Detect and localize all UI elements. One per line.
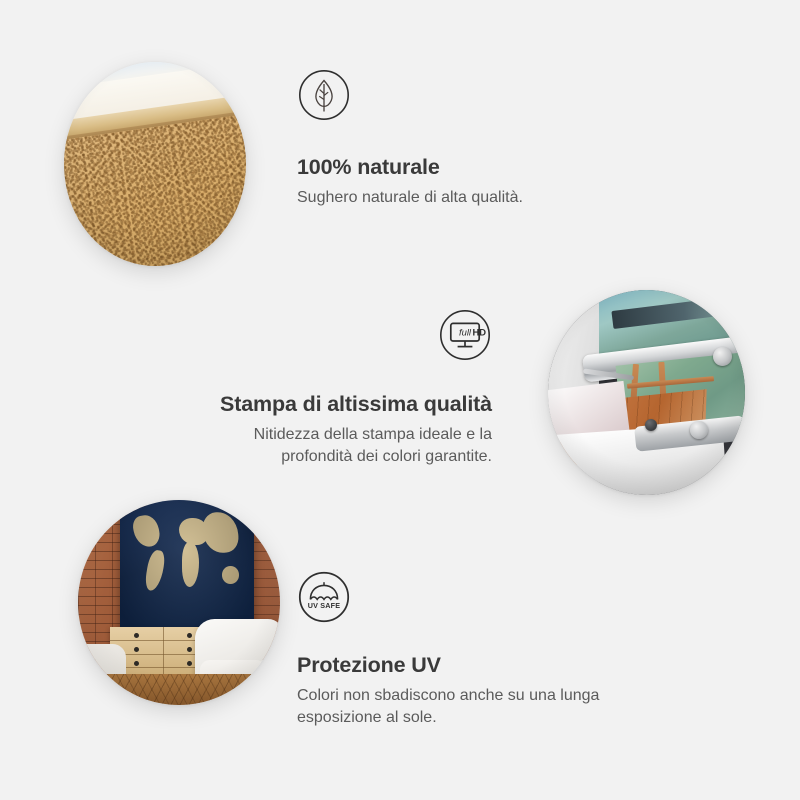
cork-texture-photo — [64, 62, 246, 266]
feature-print-quality: full HD Stampa di altissima qualità Niti… — [186, 308, 492, 468]
feature-heading: Protezione UV — [297, 652, 599, 679]
fullhd-text-full: full — [459, 326, 472, 337]
leaf-icon — [297, 68, 523, 122]
feature-subtext: Colori non sbadiscono anche su una lunga… — [297, 685, 599, 729]
uv-safe-umbrella-icon: UV SAFE — [297, 570, 599, 624]
feature-subtext: Nitidezza della stampa ideale e la profo… — [186, 424, 492, 468]
feature-subtext-line2: profondità dei colori garantite. — [281, 448, 492, 465]
fullhd-text-hd: HD — [473, 326, 487, 337]
feature-natural: 100% naturale Sughero naturale di alta q… — [297, 68, 523, 209]
printing-machine-photo — [548, 290, 745, 495]
fullhd-monitor-icon: full HD — [186, 308, 492, 367]
feature-heading: Stampa di altissima qualità — [186, 391, 492, 418]
feature-subtext-line2: esposizione al sole. — [297, 709, 437, 726]
feature-highlights-page: 100% naturale Sughero naturale di alta q… — [0, 0, 800, 800]
uv-safe-text: UV SAFE — [308, 601, 341, 610]
room-world-map-photo — [78, 500, 280, 705]
feature-subtext-line1: Nitidezza della stampa ideale e la — [254, 426, 492, 443]
feature-subtext-line1: Colori non sbadiscono anche su una lunga — [297, 687, 599, 704]
feature-uv-protection: UV SAFE Protezione UV Colori non sbadisc… — [297, 570, 599, 729]
feature-subtext: Sughero naturale di alta qualità. — [297, 187, 523, 209]
feature-heading: 100% naturale — [297, 154, 523, 181]
